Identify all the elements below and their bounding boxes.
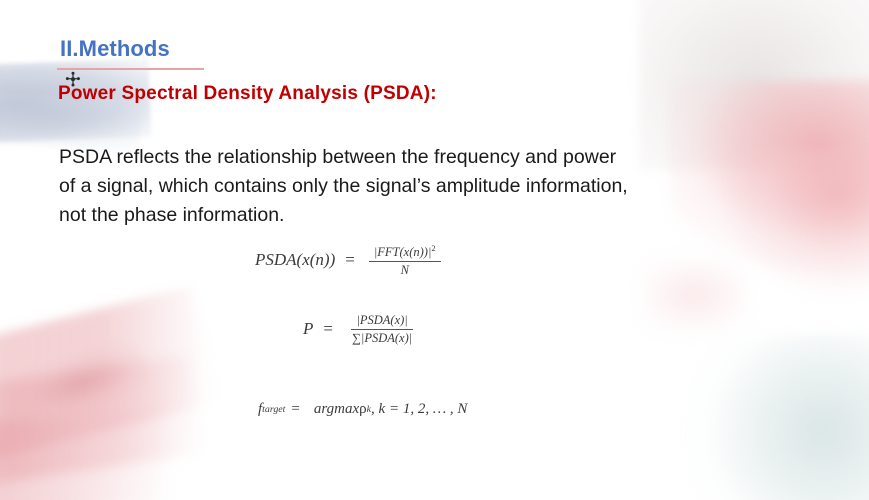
body-line-2: of a signal, which contains only the sig…	[59, 172, 739, 201]
equation-power-ratio-equals: =	[323, 319, 333, 339]
equation-power-ratio-denominator: ∑|PSDA(x)|	[347, 330, 417, 346]
equation-psda-denominator: N	[396, 262, 414, 278]
watercolor-wash-bottom-left-c	[0, 407, 174, 500]
body-line-3: not the phase information.	[59, 201, 739, 230]
equation-target-equals: =	[291, 401, 299, 418]
watercolor-wash-bottom-left-a	[0, 286, 220, 470]
equation-power-ratio-denominator-text: |PSDA(x)|	[361, 331, 412, 345]
equation-psda-numerator: |FFT(x(n))|2	[369, 243, 441, 262]
watercolor-wash-middle-pink	[639, 255, 749, 335]
equation-power-ratio-fraction: |PSDA(x)| ∑|PSDA(x)|	[347, 313, 417, 346]
summation-symbol: ∑	[352, 331, 361, 345]
equation-psda-equals: =	[345, 250, 355, 270]
equation-target-rho: ρ	[359, 401, 367, 418]
section-title: II.Methods	[60, 38, 170, 60]
equation-psda-exponent: 2	[431, 243, 435, 253]
equation-target-range: , k = 1, 2, … , N	[371, 401, 467, 418]
body-line-1: PSDA reflects the relationship between t…	[59, 143, 739, 172]
equation-power-ratio-lhs: P	[303, 319, 313, 339]
watercolor-wash-bottom-left-d	[12, 333, 154, 430]
watercolor-wash-bottom-left-b	[0, 354, 206, 489]
subsection-title: Power Spectral Density Analysis (PSDA):	[58, 84, 437, 103]
equation-psda-fraction: |FFT(x(n))|2 N	[369, 243, 441, 278]
equation-psda: PSDA(x(n)) = |FFT(x(n))|2 N	[255, 243, 441, 278]
equation-target-lhs-subscript: target	[262, 404, 285, 415]
watercolor-wash-bottom-right-teal	[684, 335, 869, 500]
equation-psda-numerator-text: |FFT(x(n))|	[374, 245, 432, 259]
equation-target-argmax: argmax	[314, 401, 359, 418]
equation-power-ratio-numerator: |PSDA(x)|	[351, 313, 412, 330]
equation-power-ratio: P = |PSDA(x)| ∑|PSDA(x)|	[303, 313, 417, 346]
equation-target-frequency: ftarget = argmaxρk, k = 1, 2, … , N	[258, 401, 467, 418]
presentation-slide: II.Methods Power Spectral Density Analys…	[0, 0, 869, 500]
equation-psda-lhs: PSDA(x(n))	[255, 250, 335, 270]
watercolor-wash-top-right-pink-secondary	[719, 150, 869, 300]
body-paragraph: PSDA reflects the relationship between t…	[59, 143, 739, 230]
mouse-cursor-artifact	[64, 70, 82, 88]
